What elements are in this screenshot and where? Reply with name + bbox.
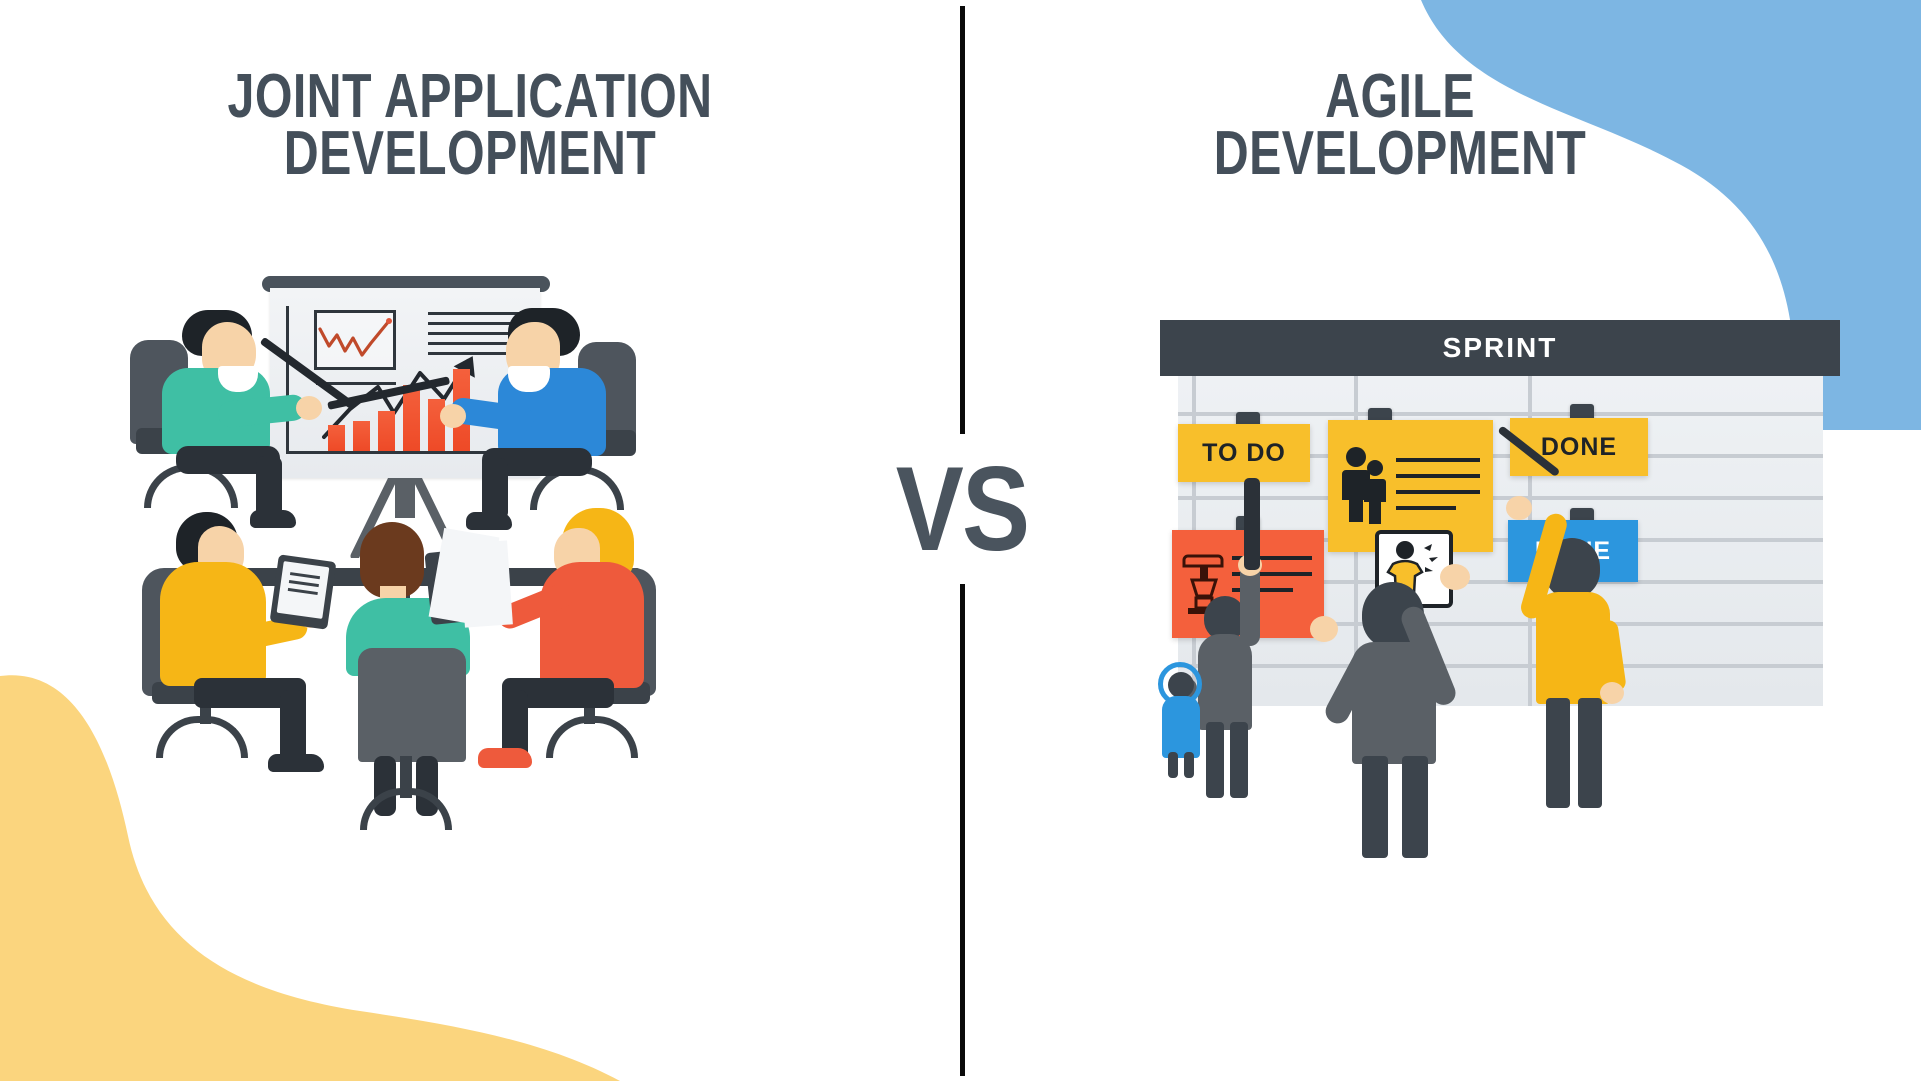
leg-2: [1578, 698, 1602, 808]
mascot-leg-2: [1184, 752, 1194, 778]
card-lines: [1396, 458, 1480, 522]
leg: [1206, 722, 1224, 798]
board-rail: [1178, 496, 1823, 500]
board-rail: [1178, 664, 1823, 668]
bar-4: [403, 385, 420, 451]
bar-3: [378, 411, 395, 451]
leg-lower: [256, 456, 282, 518]
hand-2: [1600, 682, 1624, 704]
vs-label: VS: [896, 449, 1029, 569]
shoe: [478, 748, 532, 768]
sticky-todo-label: TO DO: [1202, 439, 1286, 468]
leg: [1546, 698, 1570, 808]
hand: [296, 396, 322, 420]
body: [1198, 634, 1252, 730]
leg: [1362, 756, 1388, 858]
shoe: [268, 754, 324, 772]
chair-foot: [546, 716, 638, 758]
sprint-board-header: SPRINT: [1160, 320, 1840, 376]
bar-2: [353, 421, 370, 451]
paper-sheet-2: [459, 540, 513, 627]
shoe: [250, 510, 296, 528]
left-panel-title: JOINT APPLICATION DEVELOPMENT: [150, 68, 790, 182]
bar-5: [428, 399, 445, 451]
board-rail: [1178, 412, 1823, 416]
tablet-page: [277, 561, 330, 619]
right-hand: [1440, 564, 1470, 590]
body: [1536, 592, 1610, 704]
mascot-head: [1168, 672, 1194, 698]
sprint-header-label: SPRINT: [1443, 332, 1558, 364]
mascot-leg: [1168, 752, 1178, 778]
hand: [1506, 496, 1532, 520]
chair-foot: [156, 716, 248, 758]
vs-badge: VS: [860, 434, 1065, 584]
left-hand: [1310, 616, 1338, 642]
mascot-body: [1162, 696, 1200, 758]
marker-pen: [1244, 478, 1260, 570]
meeting-room-illustration: [110, 250, 810, 810]
right-panel-title: AGILE DEVELOPMENT: [1088, 68, 1712, 182]
bar-1: [328, 425, 345, 451]
chair-back-center: [358, 648, 466, 762]
leg-lower: [482, 458, 508, 520]
torso: [540, 562, 644, 688]
sticky-done-yellow-label: DONE: [1541, 433, 1617, 462]
sticky-todo[interactable]: TO DO: [1178, 424, 1310, 482]
sprint-board-illustration: SPRINT TO DO: [1140, 320, 1860, 880]
leg-2: [1402, 756, 1428, 858]
leg-2: [1230, 722, 1248, 798]
hand: [440, 404, 466, 428]
shoe: [466, 512, 512, 530]
people-icon: [1342, 446, 1388, 524]
chart-y-axis: [286, 306, 289, 454]
leg-lower: [280, 690, 306, 764]
poster-canvas: JOINT APPLICATION DEVELOPMENT AGILE DEVE…: [0, 0, 1921, 1081]
